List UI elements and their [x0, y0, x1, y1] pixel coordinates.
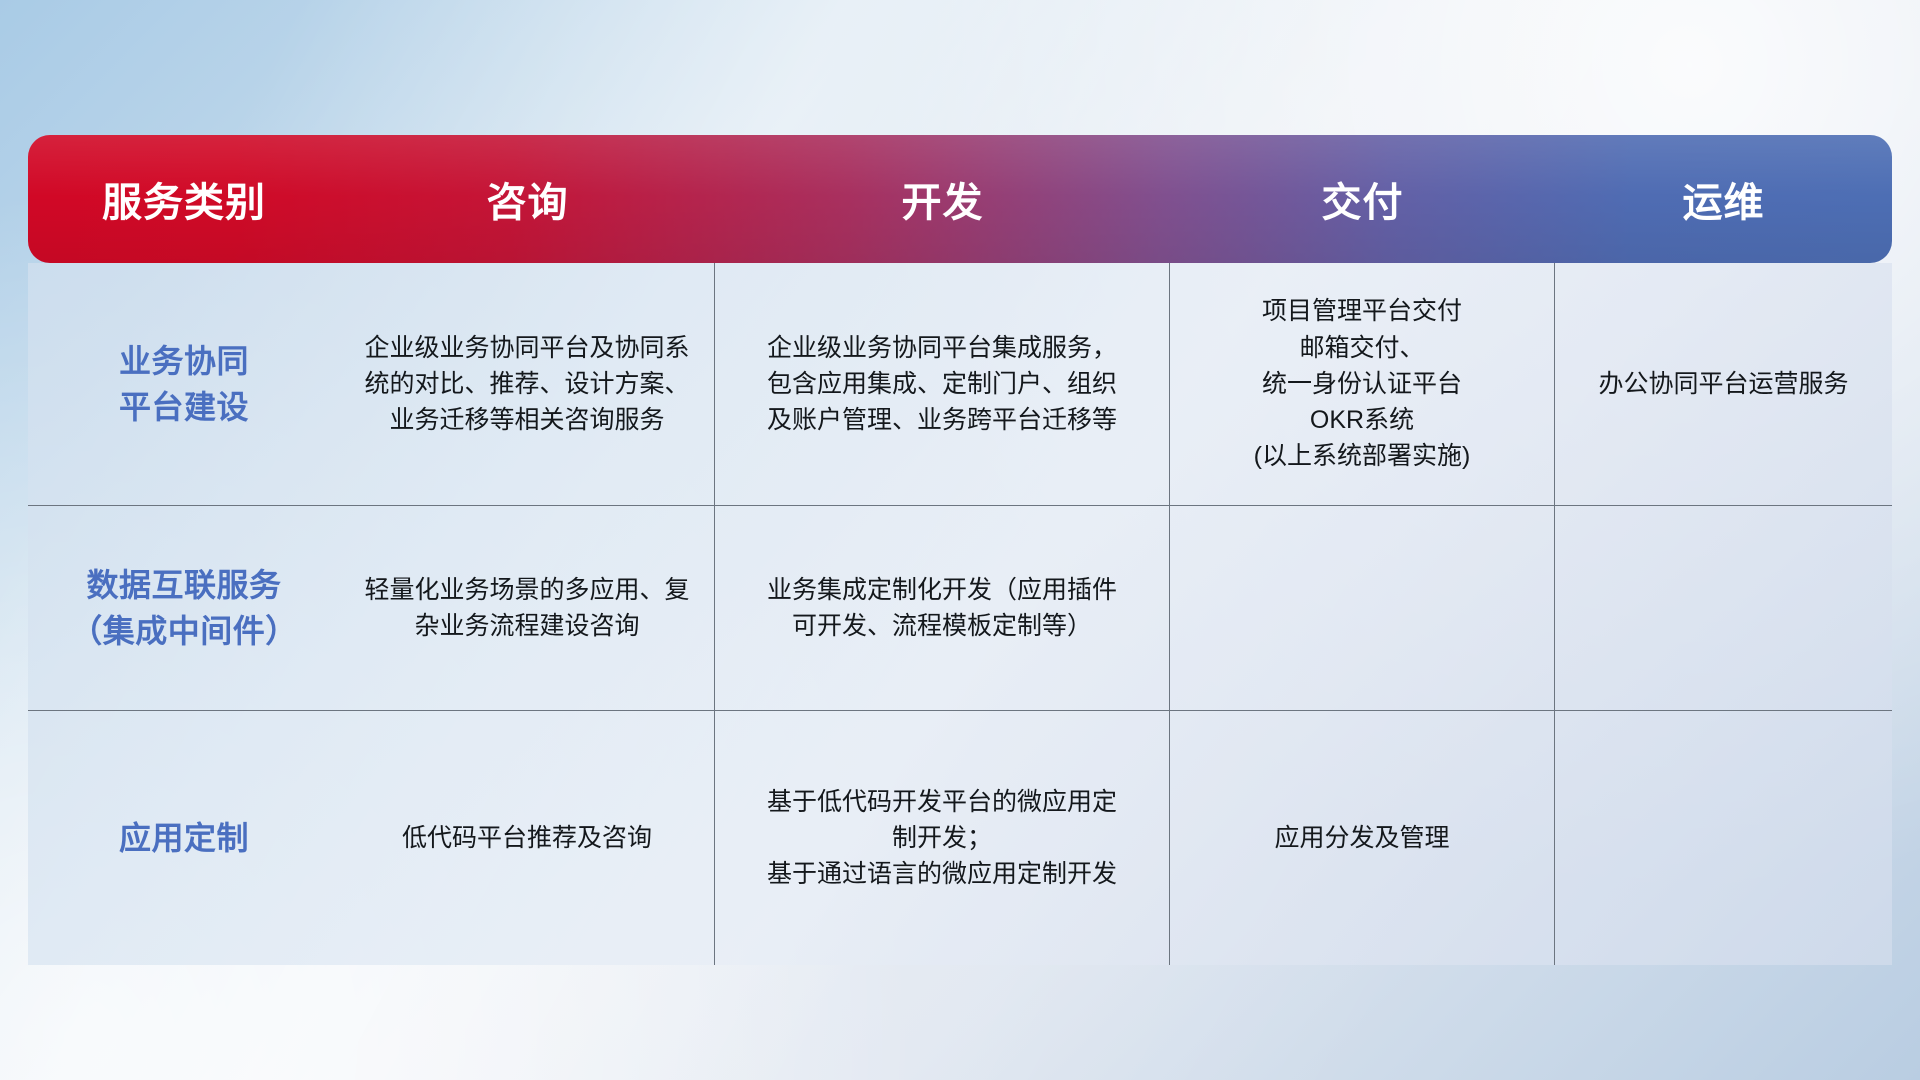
cell-consulting: 低代码平台推荐及咨询	[340, 711, 715, 965]
column-header-development: 开发	[715, 170, 1170, 228]
cell-development: 企业级业务协同平台集成服务， 包含应用集成、定制门户、组织 及账户管理、业务跨平…	[715, 263, 1170, 505]
column-header-operations: 运维	[1555, 170, 1892, 228]
category-label: 数据互联服务 （集成中间件）	[70, 562, 298, 655]
column-header-consulting: 咨询	[340, 170, 715, 228]
cell-text: 业务集成定制化开发（应用插件 可开发、流程模板定制等）	[767, 572, 1117, 645]
cell-text: 项目管理平台交付 邮箱交付、 统一身份认证平台 OKR系统 (以上系统部署实施)	[1254, 293, 1471, 474]
cell-development: 业务集成定制化开发（应用插件 可开发、流程模板定制等）	[715, 506, 1170, 710]
cell-text: 企业级业务协同平台及协同系 统的对比、推荐、设计方案、 业务迁移等相关咨询服务	[364, 330, 689, 439]
category-label: 业务协同 平台建设	[119, 338, 249, 431]
cell-delivery	[1170, 506, 1555, 710]
cell-text: 低代码平台推荐及咨询	[402, 820, 652, 856]
cell-consulting: 企业级业务协同平台及协同系 统的对比、推荐、设计方案、 业务迁移等相关咨询服务	[340, 263, 715, 505]
column-header-service-category: 服务类别	[28, 170, 340, 228]
cell-text: 轻量化业务场景的多应用、复 杂业务流程建设咨询	[364, 572, 689, 645]
cell-delivery: 项目管理平台交付 邮箱交付、 统一身份认证平台 OKR系统 (以上系统部署实施)	[1170, 263, 1555, 505]
table-header-row: 服务类别 咨询 开发 交付 运维	[28, 135, 1892, 263]
cell-operations: 办公协同平台运营服务	[1555, 263, 1892, 505]
cell-operations	[1555, 711, 1892, 965]
row-category-cell: 数据互联服务 （集成中间件）	[28, 506, 340, 710]
table-body: 业务协同 平台建设 企业级业务协同平台及协同系 统的对比、推荐、设计方案、 业务…	[28, 263, 1892, 965]
table-row: 业务协同 平台建设 企业级业务协同平台及协同系 统的对比、推荐、设计方案、 业务…	[28, 263, 1892, 506]
cell-delivery: 应用分发及管理	[1170, 711, 1555, 965]
cell-development: 基于低代码开发平台的微应用定 制开发； 基于通过语言的微应用定制开发	[715, 711, 1170, 965]
cell-text: 办公协同平台运营服务	[1598, 366, 1848, 402]
category-label: 应用定制	[119, 815, 249, 861]
table-row: 应用定制 低代码平台推荐及咨询 基于低代码开发平台的微应用定 制开发； 基于通过…	[28, 711, 1892, 965]
row-category-cell: 业务协同 平台建设	[28, 263, 340, 505]
cell-text: 基于低代码开发平台的微应用定 制开发； 基于通过语言的微应用定制开发	[767, 784, 1117, 893]
table-row: 数据互联服务 （集成中间件） 轻量化业务场景的多应用、复 杂业务流程建设咨询 业…	[28, 506, 1892, 711]
row-category-cell: 应用定制	[28, 711, 340, 965]
cell-text: 企业级业务协同平台集成服务， 包含应用集成、定制门户、组织 及账户管理、业务跨平…	[767, 330, 1117, 439]
cell-text: 应用分发及管理	[1274, 820, 1449, 856]
column-header-delivery: 交付	[1170, 170, 1555, 228]
cell-consulting: 轻量化业务场景的多应用、复 杂业务流程建设咨询	[340, 506, 715, 710]
service-matrix-table: 服务类别 咨询 开发 交付 运维 业务协同 平台建设 企业级业务协同平台及协同系…	[28, 135, 1892, 965]
cell-operations	[1555, 506, 1892, 710]
